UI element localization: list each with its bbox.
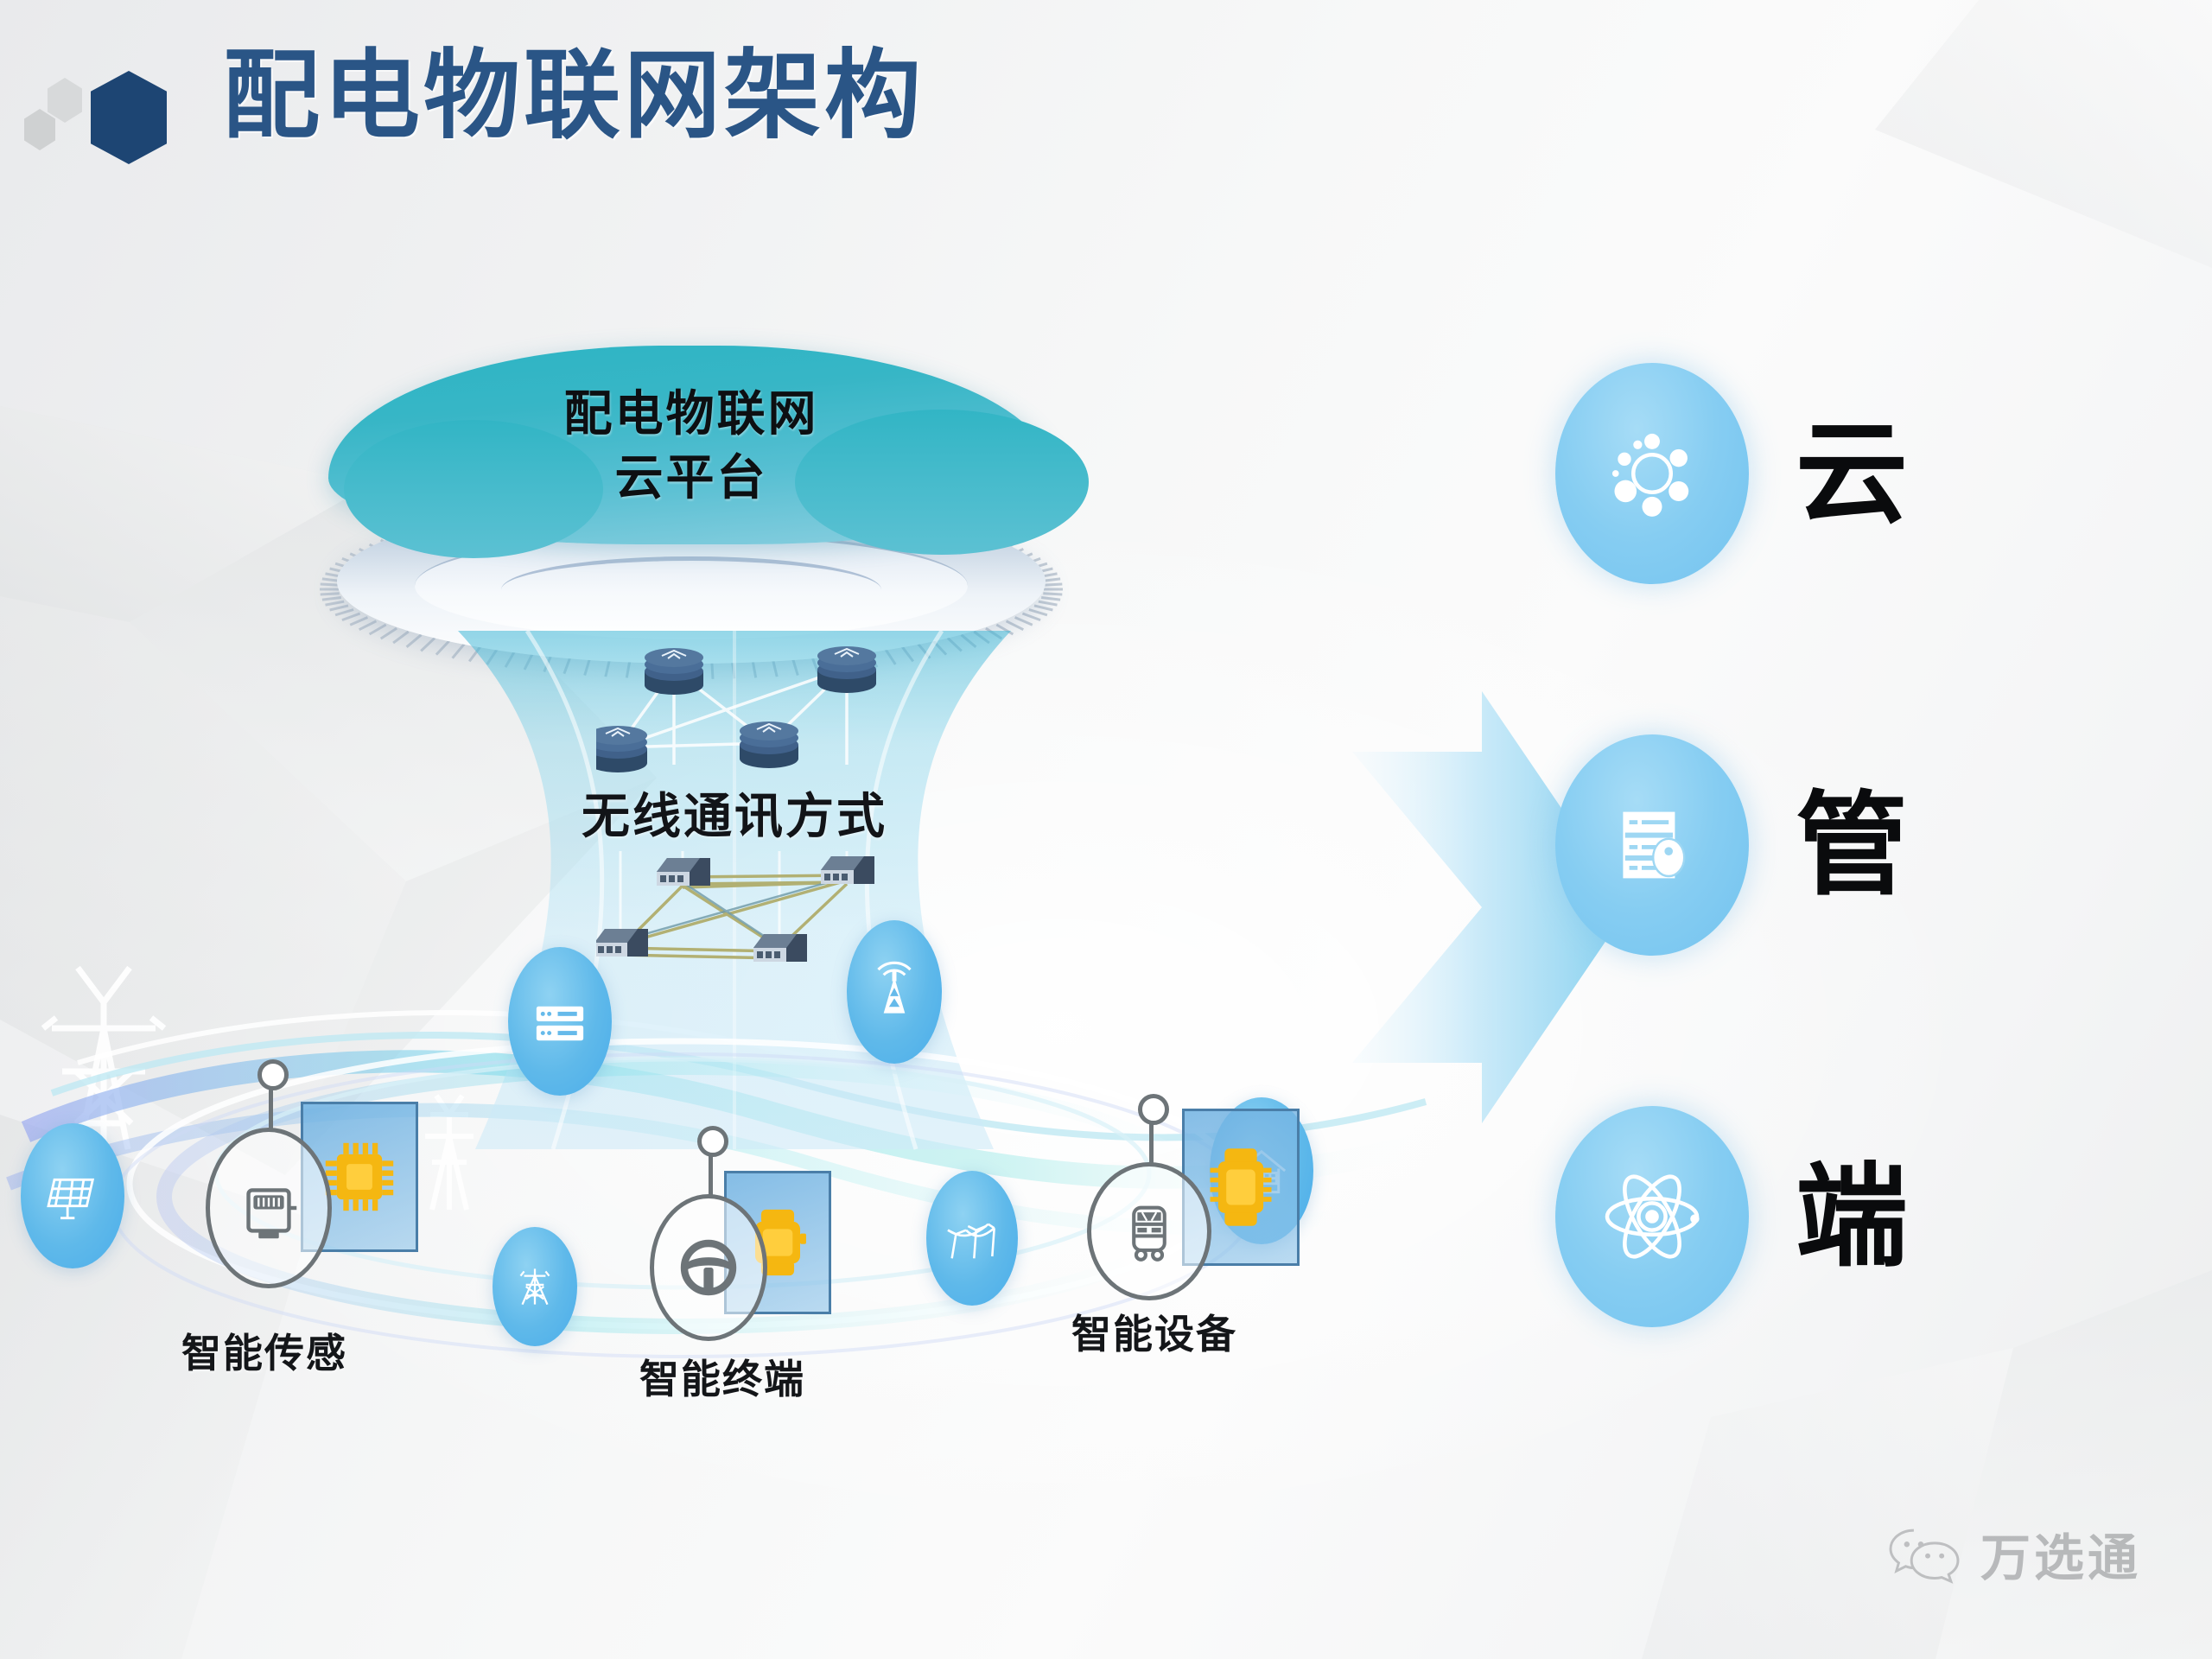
smart-sensor-icon	[231, 1170, 307, 1246]
tram-icon	[1114, 1196, 1185, 1267]
cloud-line-2: 云平台	[328, 446, 1054, 510]
cloud-platform-group: 配电物联网 云平台	[285, 337, 1184, 683]
tier-cloud-label: 云	[1796, 417, 1910, 530]
pill-power-line	[926, 1171, 1018, 1306]
tier-cloud-circle	[1555, 363, 1749, 584]
transmission-tower-icon	[508, 1260, 562, 1313]
pin-head-icon	[257, 1059, 289, 1090]
steering-wheel-icon	[672, 1231, 745, 1304]
watermark: 万选通	[1887, 1517, 2141, 1590]
atom-icon	[1596, 1160, 1708, 1273]
power-line-icon	[942, 1208, 1002, 1268]
ring-smart-device	[1087, 1162, 1211, 1300]
cloud-line-1: 配电物联网	[328, 382, 1054, 446]
pill-solar-panel	[21, 1123, 124, 1268]
slide-header: 配电物联网架构	[0, 0, 2212, 216]
hexagon-decor-small-2	[24, 109, 55, 150]
label-smart-sensing: 智能传感	[181, 1322, 347, 1379]
label-smart-device: 智能设备	[1071, 1303, 1237, 1360]
router-icons	[596, 646, 876, 772]
hexagon-decor-small-1	[48, 78, 82, 123]
label-smart-terminal: 智能终端	[639, 1348, 805, 1405]
ring-smart-sensor	[206, 1128, 332, 1288]
tier-pipe-circle	[1555, 734, 1749, 956]
slide-canvas: 配电物联网架构 配电物联网 云平台	[0, 0, 2212, 1659]
tier-pipe[interactable]: 管	[1555, 734, 1910, 956]
watermark-text: 万选通	[1980, 1517, 2141, 1590]
wechat-icon	[1887, 1523, 1961, 1584]
hexagon-logo-icon	[91, 71, 167, 164]
pin-head-icon	[1138, 1094, 1169, 1125]
solar-panel-icon	[42, 1166, 103, 1226]
network-label: 无线通讯方式	[449, 778, 1020, 848]
tier-edge-label: 端	[1796, 1160, 1910, 1273]
tier-edge[interactable]: 端	[1555, 1106, 1910, 1327]
ring-smart-terminal	[650, 1194, 767, 1341]
tier-column: 云 管	[1555, 363, 2160, 1382]
tier-cloud[interactable]: 云	[1555, 363, 1910, 584]
tier-pipe-label: 管	[1796, 789, 1910, 901]
switch-mesh	[596, 851, 907, 1007]
server-doc-icon	[1600, 793, 1704, 897]
pill-transmission-tower	[493, 1227, 577, 1346]
router-mesh	[596, 635, 907, 786]
server-rack-icon	[528, 989, 592, 1053]
cloud-dots-icon	[1597, 418, 1707, 529]
disc-inner-2	[501, 556, 881, 623]
tier-edge-circle	[1555, 1106, 1749, 1327]
cloud-text-block: 配电物联网 云平台	[328, 382, 1054, 510]
pin-head-icon	[697, 1126, 728, 1157]
page-title: 配电物联网架构	[223, 45, 925, 147]
